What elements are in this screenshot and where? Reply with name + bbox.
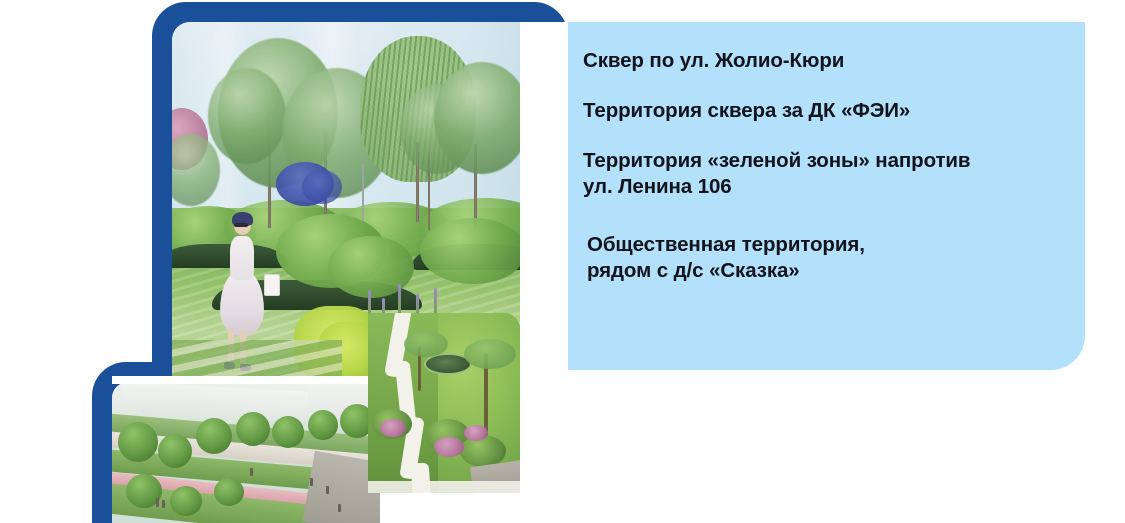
bush bbox=[328, 236, 414, 298]
list-item-label: Территория сквера за ДК «ФЭИ» bbox=[583, 98, 910, 124]
lamp-pole bbox=[362, 164, 364, 222]
figure-sunglasses bbox=[234, 223, 248, 227]
paving-path bbox=[172, 340, 342, 380]
tree bbox=[158, 434, 192, 468]
tree bbox=[308, 410, 338, 440]
pedestrian bbox=[326, 486, 329, 494]
slide-canvas: Сквер по ул. Жолио-Кюри Территория сквер… bbox=[0, 0, 1125, 523]
tree bbox=[170, 486, 202, 516]
lower-card-edge bbox=[112, 376, 380, 384]
pedestrian bbox=[338, 504, 341, 512]
boulevard-aerial-image bbox=[112, 382, 380, 523]
flower-cluster bbox=[380, 419, 406, 437]
tree bbox=[214, 478, 244, 506]
bush bbox=[420, 218, 520, 284]
tree-canopy bbox=[404, 331, 448, 357]
bullet-list: Сквер по ул. Жолио-Кюри Территория сквер… bbox=[553, 48, 1063, 288]
tree bbox=[196, 418, 232, 454]
tree-canopy bbox=[464, 339, 516, 369]
path-edge bbox=[368, 481, 520, 493]
tree bbox=[118, 422, 158, 462]
info-panel: Сквер по ул. Жолио-Кюри Территория сквер… bbox=[513, 22, 1085, 370]
figure-torso bbox=[230, 236, 254, 280]
pedestrian bbox=[310, 478, 313, 486]
list-item[interactable]: Территория сквера за ДК «ФЭИ» bbox=[553, 98, 1063, 128]
list-item-label: Территория «зеленой зоны» напротив ул. Л… bbox=[583, 148, 970, 200]
tree-canopy bbox=[208, 68, 286, 164]
list-item-label: Общественная территория, рядом с д/с «Ск… bbox=[583, 232, 865, 284]
park-plan-view-image bbox=[368, 313, 520, 493]
figure-bag bbox=[264, 274, 280, 296]
flower-cluster bbox=[434, 437, 464, 457]
tree bbox=[236, 412, 270, 446]
figure-skirt bbox=[220, 272, 264, 336]
flower-cluster bbox=[464, 425, 488, 441]
list-item[interactable]: Сквер по ул. Жолио-Кюри bbox=[553, 48, 1063, 78]
list-item[interactable]: Общественная территория, рядом с д/с «Ск… bbox=[553, 232, 1063, 288]
pedestrian bbox=[162, 500, 165, 508]
pedestrian bbox=[156, 498, 159, 507]
list-item-label: Сквер по ул. Жолио-Кюри bbox=[583, 48, 844, 74]
pedestrian bbox=[250, 468, 253, 476]
list-item[interactable]: Территория «зеленой зоны» напротив ул. Л… bbox=[553, 148, 1063, 204]
tree-canopy bbox=[434, 62, 520, 174]
blossom-cluster-blue bbox=[302, 170, 342, 204]
tree bbox=[272, 416, 304, 448]
